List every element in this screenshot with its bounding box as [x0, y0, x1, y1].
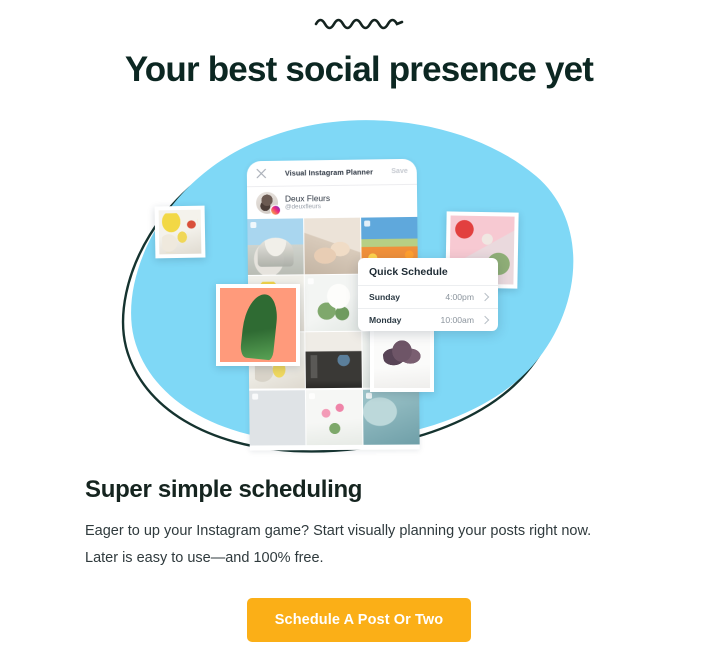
schedule-time: 10:00am [441, 315, 474, 325]
quick-schedule-title: Quick Schedule [358, 258, 498, 286]
pin-icon [252, 393, 258, 399]
phone-header: Visual Instagram Planner Save [247, 159, 417, 187]
quick-schedule-row-monday[interactable]: Monday 10:00am [358, 309, 498, 331]
schedule-time: 4:00pm [445, 292, 474, 302]
section-heading: Super simple scheduling [85, 476, 362, 504]
paragraph-line-1: Eager to up your Instagram game? Start v… [85, 518, 630, 545]
photo-cafe-storefront[interactable] [305, 332, 361, 388]
chevron-right-icon [481, 316, 489, 324]
photo-dome[interactable] [247, 218, 303, 274]
schedule-post-button[interactable]: Schedule A Post Or Two [247, 598, 471, 642]
schedule-day: Sunday [369, 292, 445, 302]
paragraph-line-2: Later is easy to use—and 100% free. [85, 545, 630, 572]
profile-text: Deux Fleurs @deuxfleurs [285, 193, 330, 212]
floating-photo-dark-flower[interactable] [370, 326, 434, 392]
save-button[interactable]: Save [391, 168, 407, 175]
avatar [256, 192, 278, 214]
profile-name: Deux Fleurs [285, 193, 330, 204]
photo-pink-peony[interactable] [249, 390, 305, 446]
phone-title: Visual Instagram Planner [267, 167, 392, 178]
pin-icon [366, 392, 372, 398]
photo-dried-flowers[interactable] [304, 218, 360, 274]
quick-schedule-row-sunday[interactable]: Sunday 4:00pm [358, 286, 498, 309]
section-paragraph: Eager to up your Instagram game? Start v… [85, 518, 630, 572]
landing-page: Your best social presence yet Visual Ins… [0, 0, 718, 661]
photo-teal-texture[interactable] [363, 389, 419, 445]
instagram-badge-icon [270, 205, 281, 216]
page-title: Your best social presence yet [0, 50, 718, 90]
profile-handle: @deuxfleurs [285, 203, 330, 212]
wavy-divider-icon [313, 14, 405, 30]
quick-schedule-card: Quick Schedule Sunday 4:00pm Monday 10:0… [358, 258, 498, 331]
close-icon[interactable] [256, 168, 267, 179]
pin-icon [364, 221, 370, 227]
profile-row: Deux Fleurs @deuxfleurs [247, 185, 417, 219]
chevron-right-icon [481, 293, 489, 301]
floating-photo-lemons[interactable] [155, 206, 206, 259]
photo-pink-blossom[interactable] [306, 389, 362, 445]
pin-icon [309, 393, 315, 399]
pin-icon [250, 222, 256, 228]
schedule-day: Monday [369, 315, 441, 325]
cta-container: Schedule A Post Or Two [0, 598, 718, 642]
floating-photo-palm-coral[interactable] [216, 284, 300, 366]
photo-white-lily[interactable] [305, 275, 361, 331]
squiggle-divider [0, 14, 718, 35]
pin-icon [308, 278, 314, 284]
hero-illustration: Visual Instagram Planner Save Deux Fleur… [120, 112, 590, 457]
